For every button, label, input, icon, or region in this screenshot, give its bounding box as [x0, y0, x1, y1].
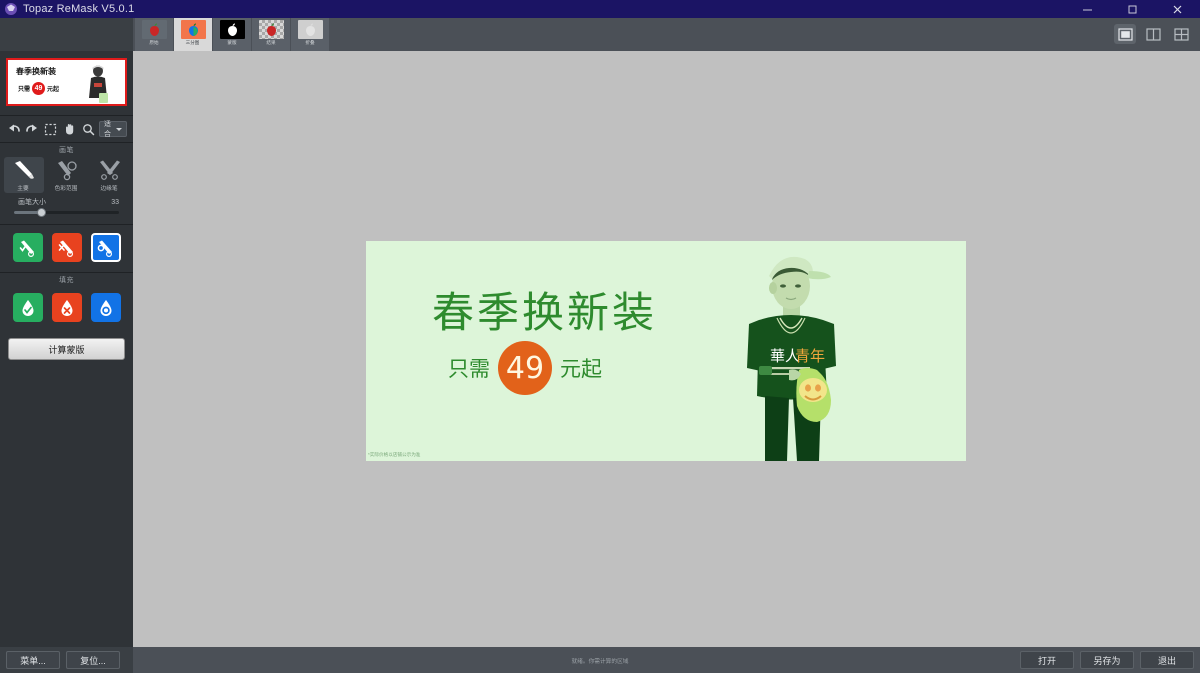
brush-compute-icon: [96, 239, 116, 257]
banner-sub-prefix: 只需: [448, 353, 490, 383]
minimize-icon[interactable]: [1065, 0, 1110, 18]
apple-trimap-icon: [181, 20, 206, 39]
compute-mask-button[interactable]: 计算蒙版: [8, 338, 125, 360]
brush-type-row: 主要 色彩范围: [0, 157, 133, 193]
thumbnail-sub-prefix: 只需: [18, 84, 30, 93]
bottom-right-buttons: 打开 另存为 退出: [1020, 651, 1194, 669]
image-canvas[interactable]: 春季换新装 只需 49 元起 *实际价格以店铺公示为准: [133, 51, 1200, 647]
application-window: Topaz ReMask V5.0.1 原始: [0, 0, 1200, 673]
brush-section-title: 画笔: [0, 145, 133, 157]
window-title: Topaz ReMask V5.0.1: [23, 3, 134, 15]
split-view-icon[interactable]: [1142, 24, 1164, 44]
maximize-icon[interactable]: [1110, 0, 1155, 18]
tab-original[interactable]: 原始: [135, 18, 173, 51]
undo-icon[interactable]: [6, 120, 22, 139]
thumbnail-content: 春季换新装 只需 49 元起: [8, 60, 125, 104]
tab-result[interactable]: 结果: [252, 18, 290, 51]
tab-mask[interactable]: 蒙版: [213, 18, 251, 51]
view-mode-group: [1114, 24, 1192, 44]
brush-size-slider[interactable]: [0, 207, 133, 220]
thumbnail-model-figure: [85, 64, 111, 106]
svg-text:青年: 青年: [795, 347, 825, 365]
menu-button[interactable]: 菜单...: [6, 651, 60, 669]
brush-edge-label: 边缘笔: [101, 183, 118, 192]
apple-original-icon: [142, 20, 167, 39]
brush-color-range-icon: [54, 159, 80, 181]
exit-button[interactable]: 退出: [1140, 651, 1194, 669]
banner-sub-suffix: 元起: [560, 353, 602, 383]
brush-main-label: 主要: [18, 183, 29, 192]
thumbnail-area: 春季换新装 只需 49 元起: [0, 51, 133, 115]
slider-track[interactable]: [14, 211, 119, 214]
brush-keep-green-button[interactable]: [13, 233, 43, 262]
fill-color-buttons: [0, 291, 133, 330]
brush-main-button[interactable]: 主要: [4, 157, 44, 193]
tab-trimap[interactable]: 三分图: [174, 18, 212, 51]
single-view-icon[interactable]: [1114, 24, 1136, 44]
thumbnail-price-badge: 49: [32, 82, 45, 95]
chevron-down-icon: [116, 128, 122, 131]
toolbar-left-filler: [0, 18, 133, 51]
navigation-tool-row: 适合: [0, 116, 133, 142]
hand-pan-icon[interactable]: [62, 120, 78, 139]
reset-button[interactable]: 复位...: [66, 651, 120, 669]
thumbnail-subtitle: 只需 49 元起: [18, 82, 59, 95]
fill-compute-icon: [97, 298, 115, 318]
fill-section-title: 填充: [0, 275, 133, 287]
bottom-bar: 就绪。你需计算的区域 菜单... 复位... 打开 另存为 退出: [0, 647, 1200, 673]
slider-fill: [14, 211, 39, 214]
save-as-button[interactable]: 另存为: [1080, 651, 1134, 669]
fill-compute-blue-button[interactable]: [91, 293, 121, 322]
fill-cut-red-button[interactable]: [52, 293, 82, 322]
zoom-level-value: 适合: [104, 119, 114, 139]
title-bar: Topaz ReMask V5.0.1: [0, 0, 1200, 18]
thumbnail-sub-suffix: 元起: [47, 84, 59, 93]
brush-cut-red-button[interactable]: [52, 233, 82, 262]
tab-output[interactable]: 折叠: [291, 18, 329, 51]
image-thumbnail[interactable]: 春季换新装 只需 49 元起: [6, 58, 127, 106]
close-icon[interactable]: [1155, 0, 1200, 18]
compute-button-wrap: 计算蒙版: [0, 330, 133, 360]
view-tabs: 原始 三分图 蒙版: [135, 18, 330, 51]
brush-keep-icon: [18, 239, 38, 257]
banner-image[interactable]: 春季换新装 只需 49 元起 *实际价格以店铺公示为准: [366, 241, 966, 461]
brush-size-value: 33: [111, 199, 119, 206]
brush-compute-blue-button[interactable]: [91, 233, 121, 262]
brush-size-label: 画笔大小: [18, 197, 46, 207]
fill-section: 填充: [0, 273, 133, 291]
apple-transparent-icon: [259, 20, 284, 39]
left-tool-panel: 春季换新装 只需 49 元起: [0, 51, 133, 647]
zoom-level-select[interactable]: 适合: [99, 121, 127, 137]
tab-result-label: 结果: [266, 39, 275, 46]
marquee-select-icon[interactable]: [43, 120, 59, 139]
tab-trimap-label: 三分图: [186, 39, 200, 46]
brush-edge-icon: [97, 159, 123, 181]
open-button[interactable]: 打开: [1020, 651, 1074, 669]
banner-price-circle: 49: [498, 341, 552, 395]
banner-title: 春季换新装: [432, 279, 657, 340]
brush-color-buttons: [0, 225, 133, 272]
brush-edge-button[interactable]: 边缘笔: [90, 157, 130, 193]
tab-original-label: 原始: [149, 39, 158, 46]
brush-section: 画笔 主要 色彩范围: [0, 143, 133, 224]
quad-view-icon[interactable]: [1170, 24, 1192, 44]
bottom-left-buttons: 菜单... 复位...: [6, 651, 120, 669]
banner-subtitle: 只需 49 元起: [448, 341, 602, 395]
apple-output-icon: [298, 20, 323, 39]
redo-icon[interactable]: [25, 120, 41, 139]
tab-mask-label: 蒙版: [227, 39, 236, 46]
slider-knob[interactable]: [37, 208, 46, 217]
brush-color-range-label: 色彩范围: [55, 183, 78, 192]
fill-keep-icon: [19, 298, 37, 318]
banner-fine-print: *实际价格以店铺公示为准: [368, 452, 420, 458]
status-text: 就绪。你需计算的区域: [30, 648, 1170, 673]
apple-mask-icon: [220, 20, 245, 39]
zoom-magnifier-icon[interactable]: [80, 120, 96, 139]
fill-cut-icon: [58, 298, 76, 318]
topaz-logo-icon: [4, 2, 18, 16]
brush-color-range-button[interactable]: 色彩范围: [47, 157, 87, 193]
top-toolbar: 原始 三分图 蒙版: [0, 18, 1200, 51]
fill-keep-green-button[interactable]: [13, 293, 43, 322]
tab-output-label: 折叠: [305, 39, 314, 46]
brush-size-row: 画笔大小 33: [0, 193, 133, 207]
brush-main-icon: [11, 159, 37, 181]
brush-cut-icon: [57, 239, 77, 257]
banner-model-figure: 華人 青年: [739, 246, 844, 461]
thumbnail-title: 春季换新装: [16, 66, 56, 77]
